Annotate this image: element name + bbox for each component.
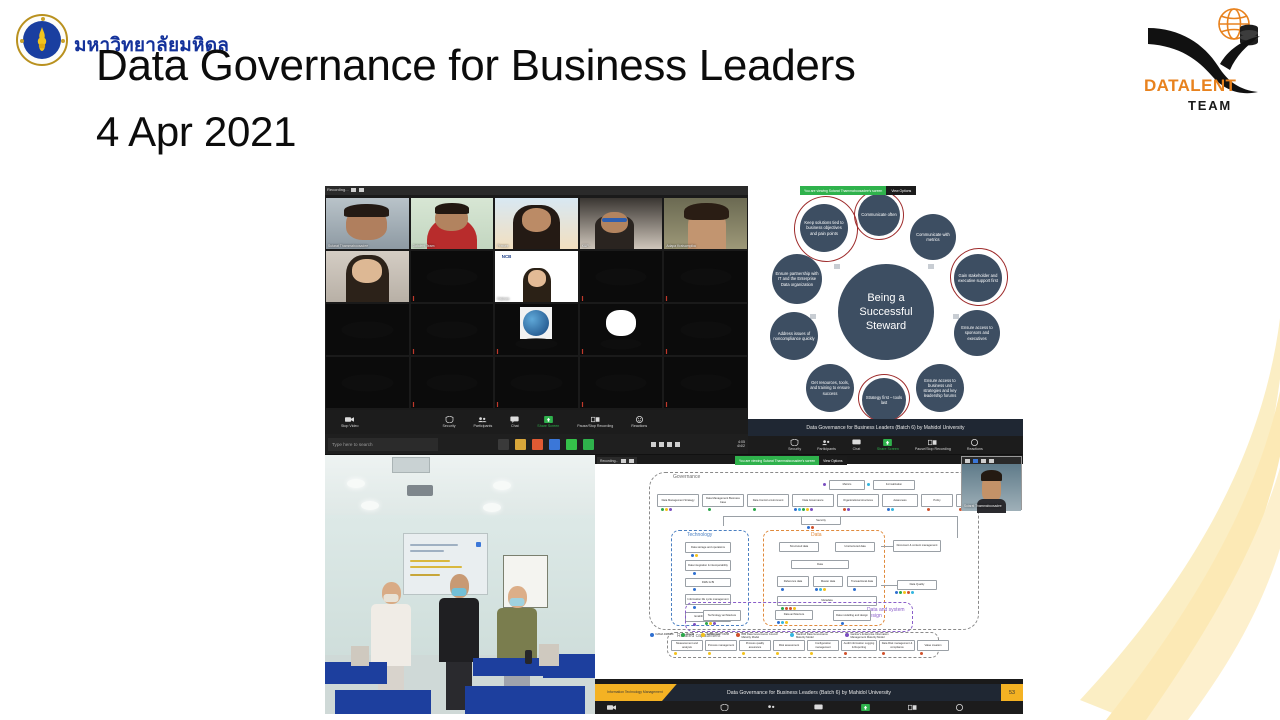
mahidol-crown-glyph xyxy=(34,27,51,52)
video-camera-icon xyxy=(345,416,354,423)
technology-box: Data integration & interoperability xyxy=(685,560,731,571)
design-box: Technology architecture xyxy=(703,610,741,621)
wheel-bubble: Ensure partnership with IT and the Enter… xyxy=(772,254,822,304)
mic-muted-icon xyxy=(412,296,415,301)
share-status-bar: You are viewing Sutarat Thammaboosadee's… xyxy=(735,456,847,465)
page-title: Data Governance for Business Leaders xyxy=(96,42,856,90)
mic-muted-icon xyxy=(496,349,499,354)
share-status-text: You are viewing Sutarat Thammaboosadee's… xyxy=(735,456,819,465)
mic-muted-icon xyxy=(581,402,584,407)
tb-label: Share Screen xyxy=(877,447,899,451)
legend-item: DAMA DMBOK xyxy=(650,633,674,638)
datalent-logo: DATALENT TEAM xyxy=(1136,4,1266,120)
projector-icon xyxy=(407,485,433,496)
governance-box: Data Control environment xyxy=(747,494,789,507)
tb-reactions[interactable]: Reactions xyxy=(631,416,647,428)
wheel-bubble: Ensure access to sponsors and executives xyxy=(954,310,1000,356)
participant-tile[interactable] xyxy=(664,251,747,302)
record-icon xyxy=(908,704,917,711)
file-explorer-icon[interactable] xyxy=(515,439,526,450)
tb-chat[interactable]: Chat xyxy=(510,416,519,428)
mic-muted-icon xyxy=(665,402,668,407)
task-view-icon[interactable] xyxy=(498,439,509,450)
record-icon xyxy=(928,439,937,446)
taskbar-clock[interactable]: 4:05 4/4/2 xyxy=(737,440,745,448)
tb-label: Reactions xyxy=(631,424,647,428)
chrome-icon[interactable] xyxy=(532,439,543,450)
participant-tile[interactable] xyxy=(580,304,663,355)
tb-label: Security xyxy=(788,447,801,451)
data-box: Transactional data xyxy=(847,576,877,587)
tb-label: Chat xyxy=(853,447,861,451)
slide-date: 4 Apr 2021 xyxy=(96,108,856,156)
share-screen-icon xyxy=(544,416,553,423)
zone-label-design: Data and system design xyxy=(867,607,911,619)
presenter-thumbnail[interactable]: Sutarat Thammaboosadee xyxy=(961,456,1022,510)
participant-tile[interactable]: NCB Pakinee xyxy=(495,251,578,302)
taskbar-search-input[interactable]: Type here to search xyxy=(328,438,438,451)
tb-label: Pause/Stop Recording xyxy=(577,424,613,428)
mic-muted-icon xyxy=(581,296,584,301)
slide-footer-caption: Data Governance for Business Leaders (Ba… xyxy=(727,690,891,696)
reactions-icon xyxy=(635,416,644,423)
capability-box: Audit Information Logging & Reporting xyxy=(841,640,877,651)
data-box: Master data xyxy=(813,576,843,587)
wheel-bubble: Get resources, tools, and training to en… xyxy=(806,364,854,412)
share-screen-icon xyxy=(861,704,870,711)
tb-pause-stop-recording[interactable]: Pause/Stop Recording xyxy=(577,416,613,428)
wheel-bubble: Ensure access to business unit strategie… xyxy=(916,364,964,412)
capability-box: Data Risk management & compliance xyxy=(879,640,915,651)
recording-controls[interactable] xyxy=(351,188,364,192)
participant-tile[interactable]: K&P... xyxy=(580,198,663,249)
annotation-circle xyxy=(947,245,1011,309)
zoom-app-icon[interactable] xyxy=(583,439,594,450)
reactions-icon xyxy=(970,439,979,446)
tb2-participants[interactable]: Participants xyxy=(817,439,836,451)
zoom-gallery-window[interactable]: Recording... Sutarat Thammaboosadee Data… xyxy=(325,186,748,454)
legend-item: CMMI CERT DMM xyxy=(701,633,729,638)
chat-bubble-icon xyxy=(510,416,519,423)
decorative-swoosh xyxy=(1020,300,1280,720)
design-box: Data modelling and design xyxy=(833,610,871,621)
slide-footer: Information Technology Management Data G… xyxy=(595,684,1023,701)
participant-name: Prawee xyxy=(497,244,509,248)
presentation-slide: มหาวิทยาลัยมหิดล Data Governance for Bus… xyxy=(0,0,1280,720)
tb2-security[interactable]: Security xyxy=(788,439,801,451)
tb-label: Reactions xyxy=(967,447,983,451)
screenshot-composite: Recording... Sutarat Thammaboosadee Data… xyxy=(325,186,1023,714)
participant-tile[interactable]: Datalent Team xyxy=(411,198,494,249)
people-icon xyxy=(767,704,776,711)
ceiling-vent xyxy=(392,457,430,473)
governance-box: Organizational structures xyxy=(837,494,879,507)
people-icon xyxy=(478,416,487,423)
zone-label-governance: Governance xyxy=(673,474,700,480)
participant-name: K&P... xyxy=(582,244,591,248)
shield-icon xyxy=(790,439,799,446)
participant-tile[interactable] xyxy=(326,357,409,408)
mic-muted-icon xyxy=(665,296,668,301)
system-tray[interactable] xyxy=(651,442,680,447)
technology-box: Data storage and operations xyxy=(685,542,731,553)
participant-tile[interactable] xyxy=(411,357,494,408)
capability-box: Value creation xyxy=(917,640,949,651)
governance-box: Data Management Business Case xyxy=(702,494,744,507)
data-box: Reference data xyxy=(777,576,809,587)
tb-label: Participants xyxy=(817,447,836,451)
share-status-bar: You are viewing Sutarat Thammaboosadee's… xyxy=(800,186,916,195)
classroom-photo xyxy=(325,455,595,714)
line-icon[interactable] xyxy=(566,439,577,450)
tb-stop-video[interactable]: Stop Video xyxy=(341,416,359,428)
governance-box: Metrics xyxy=(829,480,865,490)
datalent-team-label: TEAM xyxy=(1188,98,1232,113)
governance-box: Policy xyxy=(921,494,953,507)
view-options-button[interactable]: View Options xyxy=(819,456,846,465)
tb3-security[interactable] xyxy=(720,704,729,711)
participant-tile[interactable] xyxy=(326,251,409,302)
mic-muted-icon xyxy=(412,349,415,354)
shield-icon xyxy=(445,416,454,423)
maturity-legend: DAMA DMBOK DCAM CMMI CERT DMM IBM Data G… xyxy=(650,633,892,639)
governance-box: Data Management Strategy xyxy=(657,494,699,507)
recording-label: Recording... xyxy=(600,459,618,463)
participant-grid: Sutarat Thammaboosadee Datalent Team Pra… xyxy=(326,198,747,408)
taskbar-app-icons[interactable] xyxy=(498,439,594,450)
data-box: Data xyxy=(791,560,849,569)
zoom-toolbar[interactable]: Stop Video Security Participants Chat Sh… xyxy=(325,410,748,434)
participant-name: Sutarat Thammaboosadee xyxy=(328,244,368,248)
tb2-pause-stop-recording[interactable]: Pause/Stop Recording xyxy=(915,439,951,451)
tb-security[interactable]: Security xyxy=(443,416,456,428)
participant-tile[interactable] xyxy=(580,251,663,302)
governance-box: Data Governance xyxy=(792,494,834,507)
tb-label: Pause/Stop Recording xyxy=(915,447,951,451)
reactions-icon xyxy=(955,704,964,711)
participant-tile[interactable] xyxy=(495,357,578,408)
annotation-circle xyxy=(858,374,910,422)
maturity-model-slide: Recording... You are viewing Sutarat Tha… xyxy=(595,455,1023,714)
tb-label: Chat xyxy=(511,424,519,428)
mic-muted-icon xyxy=(665,349,668,354)
tb2-share-screen[interactable]: Share Screen xyxy=(877,439,899,451)
mic-muted-icon xyxy=(412,402,415,407)
legend-item: Stanford Data Governance Maturity Model xyxy=(790,633,838,639)
chat-bubble-icon xyxy=(814,704,823,711)
participant-tile[interactable] xyxy=(495,304,578,355)
wheel-bubble: Address issues of noncompliance quickly xyxy=(770,312,818,360)
tb3-video[interactable] xyxy=(607,704,616,711)
capability-box: Configuration management xyxy=(807,640,839,651)
governance-box: Awareness xyxy=(882,494,918,507)
wheel-center: Being a Successful Steward xyxy=(838,264,934,360)
data-box: Unstructured data xyxy=(835,542,875,552)
participant-name: Adapa Kraisampika xyxy=(666,244,695,248)
participant-tile[interactable] xyxy=(411,251,494,302)
legend-item: DCAM xyxy=(681,633,694,638)
zone-label-technology: Technology xyxy=(687,532,712,538)
annotation-circle xyxy=(854,190,904,240)
zoom-toolbar-secondary[interactable]: Security Participants Chat Share Screen … xyxy=(748,436,1023,454)
technology-box: DWH & BI xyxy=(685,578,731,587)
zoom-toolbar-tertiary[interactable] xyxy=(595,701,1023,714)
itm-logo-banner: Information Technology Management xyxy=(595,684,677,701)
classroom-tables xyxy=(325,624,595,714)
shield-icon xyxy=(720,704,729,711)
share-status-text: You are viewing Sutarat Thammaboosadee's… xyxy=(800,186,886,195)
thumbnail-window-controls[interactable] xyxy=(962,457,1021,464)
view-options-button[interactable]: View Options xyxy=(886,186,916,195)
participant-tile[interactable] xyxy=(580,357,663,408)
datalent-wordmark: DATALENT xyxy=(1144,76,1236,96)
mic-muted-icon xyxy=(581,349,584,354)
title-block: Data Governance for Business Leaders 4 A… xyxy=(96,42,856,156)
right-box: Document & content management xyxy=(893,540,941,552)
tb-label: Share Screen xyxy=(537,424,559,428)
share-screen-icon xyxy=(883,439,892,446)
participant-tile[interactable]: Prawee xyxy=(495,198,578,249)
mahidol-seal-icon xyxy=(16,14,68,66)
participant-name: Pakinee xyxy=(497,297,509,301)
participant-tile[interactable] xyxy=(664,357,747,408)
capability-box: Measurement and analysis xyxy=(671,640,703,651)
zone-label-data: Data xyxy=(811,532,822,538)
mic-muted-icon xyxy=(496,402,499,407)
chat-bubble-icon xyxy=(852,439,861,446)
right-box: Data Quality xyxy=(897,580,937,590)
maturity-diagram-canvas: Governance Metrics Formalization Data Ma… xyxy=(595,464,1023,679)
tb-label: Participants xyxy=(474,424,493,428)
capability-box: Process quality assurance xyxy=(739,640,771,651)
people-icon xyxy=(822,439,831,446)
outlook-icon[interactable] xyxy=(549,439,560,450)
participant-tile[interactable]: Adapa Kraisampika xyxy=(664,198,747,249)
tb3-participants[interactable] xyxy=(767,704,776,711)
recording-label: Recording... xyxy=(327,187,349,192)
record-icon xyxy=(591,416,600,423)
wheel-bubble: Communicate with metrics xyxy=(910,214,956,260)
tb-label: Security xyxy=(443,424,456,428)
governance-box: Formalization xyxy=(873,480,915,490)
design-box: Data architecture xyxy=(775,610,813,620)
data-box: Structured data xyxy=(779,542,819,552)
presenter-name: Sutarat Thammaboosadee xyxy=(964,504,1002,508)
participant-name: Datalent Team xyxy=(413,244,435,248)
steward-wheel-slide: You are viewing Sutarat Thammaboosadee's… xyxy=(748,186,1023,436)
steward-wheel-diagram: Being a Successful Steward Keep solution… xyxy=(748,186,1023,436)
participant-tile[interactable]: Sutarat Thammaboosadee xyxy=(326,198,409,249)
video-camera-icon xyxy=(607,704,616,711)
tb2-reactions[interactable]: Reactions xyxy=(967,439,983,451)
legend-item: IBM Data Governance Council Maturity Mod… xyxy=(736,633,784,639)
tb3-recording[interactable] xyxy=(908,704,917,711)
tb3-share-screen[interactable] xyxy=(861,704,870,711)
tb2-chat[interactable]: Chat xyxy=(852,439,861,451)
capability-box: Process management xyxy=(705,640,737,651)
tb3-chat[interactable] xyxy=(814,704,823,711)
tb-participants[interactable]: Participants xyxy=(474,416,493,428)
tb-label: Stop Video xyxy=(341,424,359,428)
slide-footer-caption: Data Governance for Business Leaders (Ba… xyxy=(748,419,1023,436)
capability-box: Risk assessment xyxy=(773,640,805,651)
slide-number: 53 xyxy=(1001,684,1023,701)
zoom-recording-bar: Recording... xyxy=(325,186,748,195)
tb3-reactions[interactable] xyxy=(955,704,964,711)
participant-tile[interactable] xyxy=(411,304,494,355)
windows-taskbar[interactable]: Type here to search 4:05 4/4/2 xyxy=(325,434,748,454)
tb-share-screen[interactable]: Share Screen xyxy=(537,416,559,428)
participant-tile[interactable] xyxy=(326,304,409,355)
security-box: Security xyxy=(801,516,841,525)
legend-item: Gartner's Enterprise Information Managem… xyxy=(845,633,893,639)
participant-tile[interactable] xyxy=(664,304,747,355)
